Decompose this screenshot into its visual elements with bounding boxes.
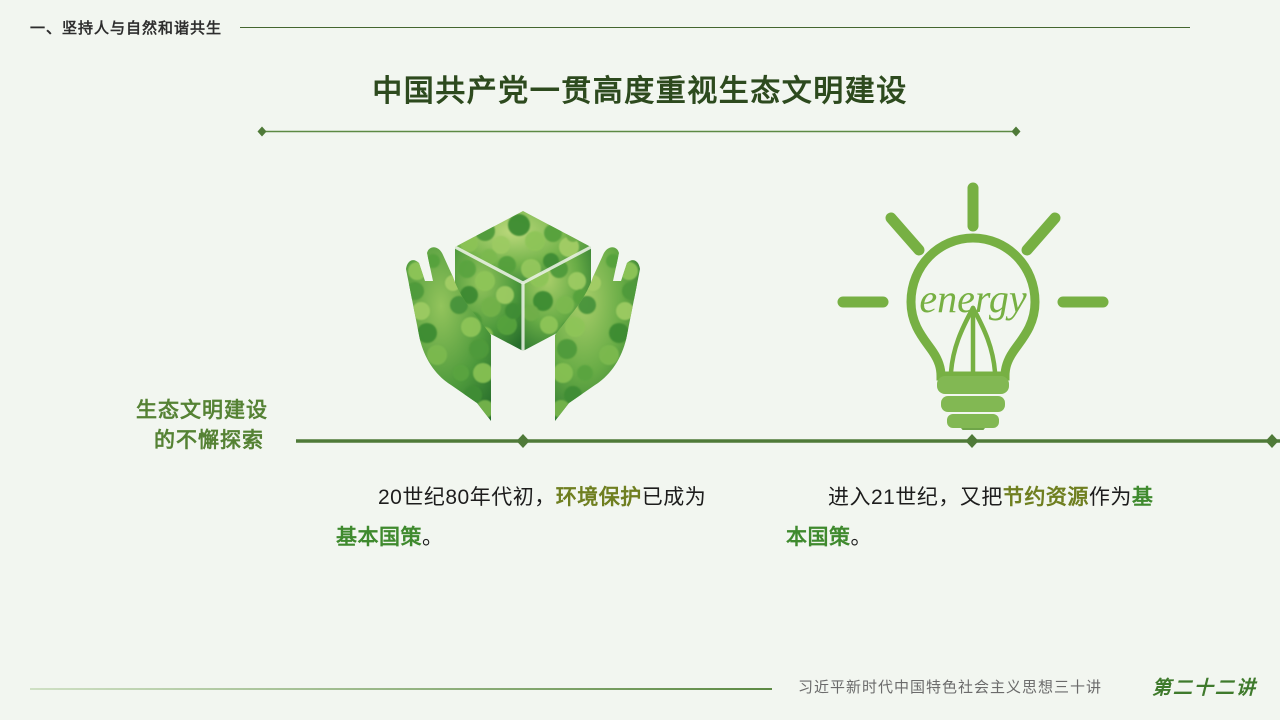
page-title: 中国共产党一贯高度重视生态文明建设 [0, 72, 1280, 112]
timeline-marker-3 [1266, 434, 1279, 448]
caption-1-seg-0: 20世纪80年代初， [378, 486, 556, 509]
column-2: energy [788, 180, 1158, 430]
caption-2-seg-1: 节约资源 [1003, 486, 1089, 509]
caption-1-seg-1: 环境保护 [556, 486, 642, 509]
timeline-marker-2 [966, 434, 979, 448]
title-block: 中国共产党一贯高度重视生态文明建设 [0, 72, 1280, 112]
bulb-energy-text: energy [919, 276, 1027, 321]
caption-2-seg-0: 进入21世纪，又把 [828, 486, 1003, 509]
timeline-left-label-line1: 生态文明建设 [112, 396, 292, 426]
caption-2-seg-4: 。 [851, 526, 873, 549]
caption-1-seg-4: 。 [422, 526, 444, 549]
footer-series-title: 习近平新时代中国特色社会主义思想三十讲 [798, 676, 1102, 697]
footer-lecture-number: 第二十二讲 [1152, 673, 1257, 700]
caption-2-seg-2: 作为 [1089, 486, 1132, 509]
column-1 [338, 180, 708, 440]
timeline-left-label-line2: 的不懈探索 [112, 426, 292, 456]
hands-holding-forest-cube-illustration [338, 180, 708, 440]
slide-root: 一、坚持人与自然和谐共生 中国共产党一贯高度重视生态文明建设 生态文明建设 的不… [0, 0, 1280, 720]
timeline-left-label: 生态文明建设 的不懈探索 [112, 396, 292, 456]
section-header-divider [240, 27, 1190, 28]
green-energy-lightbulb-illustration: energy [788, 180, 1158, 430]
section-header-label: 一、坚持人与自然和谐共生 [30, 17, 222, 38]
caption-1-seg-2: 已成为 [642, 486, 707, 509]
footer-divider [30, 688, 772, 690]
title-underline-rule [256, 126, 1022, 137]
section-header: 一、坚持人与自然和谐共生 [30, 14, 1190, 40]
caption-2: 进入21世纪，又把节约资源作为基本国策。 [786, 478, 1166, 558]
caption-1: 20世纪80年代初，环境保护已成为基本国策。 [336, 478, 716, 558]
caption-1-seg-3: 基本国策 [336, 526, 422, 549]
bulb-base [937, 376, 1009, 430]
